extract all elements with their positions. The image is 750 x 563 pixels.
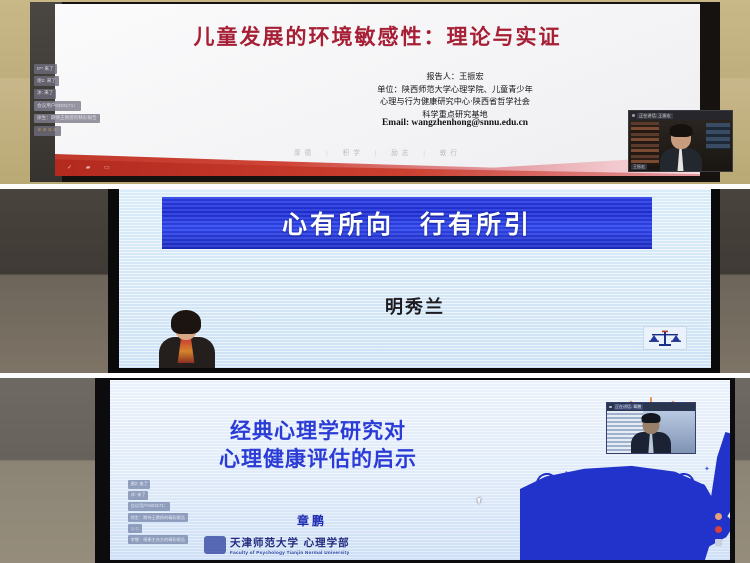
motto-divider-1: | [326, 150, 332, 157]
mouse-cursor-icon [477, 498, 483, 505]
bookshelf-background [631, 122, 659, 166]
slide-3-title-line-1: 经典心理学研究对 [158, 417, 478, 445]
remote-speaker-hair [669, 124, 692, 137]
chat-message: 李慧：感谢主办方的精彩报告 [128, 535, 188, 544]
slide-3-title-line-2: 心理健康评估的启示 [158, 445, 478, 473]
chat-message: 谢2: 来了 [128, 480, 150, 489]
chat-overlay-3: 谢2: 来了 沐: 来了 会议用户0403171： 徐生：期待王教授的精彩报告 … [128, 480, 278, 546]
remote-speaker-hair [642, 413, 661, 423]
video-tile-3-name: 正在讲话: 章鹏 [614, 404, 643, 410]
balance-scales-logo [643, 326, 687, 350]
video-tile-1-name: 正在讲话: 王振宏 [637, 113, 673, 119]
slide-2-banner-left: 心有所向 [282, 205, 394, 241]
motto-word-4: 敦行 [440, 150, 461, 157]
video-tile-1[interactable]: 正在讲话: 王振宏 王振宏 [628, 110, 733, 172]
on-stage-speaker-2 [157, 310, 217, 368]
panel-wang-zhenhong: 儿童发展的环境敏感性：理论与实证 报告人：王振宏 单位：陕西师范大学心理学院、儿… [0, 0, 750, 184]
microphone-icon [632, 114, 635, 117]
reaction-icon[interactable] [715, 526, 722, 533]
chat-emoji-run: ☺☺ [128, 524, 142, 533]
video-tile-3[interactable]: 正在讲话: 章鹏 [606, 402, 696, 454]
slide-2-banner-text: 心有所向 行有所引 [162, 197, 652, 249]
toolbar-icon[interactable] [715, 539, 722, 546]
chat-overlay-1: 0** 来了 谢2: 来了 沐: 来了 会议用户0403171： 徐生：期待王教… [34, 64, 194, 138]
slide-1-email: Email: wangzhenhong@snnu.edu.cn [305, 118, 605, 128]
chat-message: 0** 来了 [34, 64, 57, 74]
chat-message: 徐生：期待王教授的精彩报告 [128, 513, 188, 522]
lecture-screenshot-collage: 儿童发展的环境敏感性：理论与实证 报告人：王振宏 单位：陕西师范大学心理学院、儿… [0, 0, 750, 563]
chat-message: 徐生：期待王教授的精彩报告 [34, 114, 100, 124]
slide-2-banner-right: 行有所引 [420, 205, 532, 241]
video-tile-1-header: 正在讲话: 王振宏 [629, 111, 732, 120]
slide-1-affiliation-2: 心理与行为健康研究中心·陕西省哲学社会 [305, 95, 605, 108]
slide-1-speaker-line: 报告人：王振宏 [305, 70, 605, 83]
panel-ming-xiulan: 心有所向 行有所引 明秀兰 [0, 189, 750, 373]
bookshelf-background-right [706, 123, 730, 149]
panel-zhang-peng: 经典心理学研究对 心理健康评估的启示 章鹏 天津师范大学 心理学部 Facult… [0, 378, 750, 563]
slide-3-org-en: Faculty of Psychology Tianjin Normal Uni… [230, 550, 460, 555]
slide-3-title: 经典心理学研究对 心理健康评估的启示 [158, 417, 478, 474]
on-stage-speaker-hair [171, 310, 201, 334]
motto-word-1: 厚德 [294, 150, 315, 157]
slide-1-presenter-block: 报告人：王振宏 单位：陕西师范大学心理学院、儿童青少年 心理与行为健康研究中心·… [305, 70, 605, 121]
slide-2: 心有所向 行有所引 明秀兰 [119, 189, 711, 368]
slide-2-banner: 心有所向 行有所引 [162, 197, 652, 249]
chat-message: 沐: 来了 [34, 89, 56, 99]
motto-word-3: 励志 [391, 150, 412, 157]
slide-1-affiliation-1: 单位：陕西师范大学心理学院、儿童青少年 [305, 83, 605, 96]
chat-message: 沐: 来了 [128, 491, 148, 500]
video-tile-1-feed: 王振宏 [629, 120, 732, 171]
slide-1-title: 儿童发展的环境敏感性：理论与实证 [55, 21, 700, 51]
motto-divider-2: | [375, 150, 381, 157]
video-tile-3-feed [607, 411, 695, 453]
chat-emoji-run: ☺☺☺☺ [34, 126, 61, 136]
chat-message: 会议用户0403171： [34, 101, 81, 111]
chat-message: 谢2: 来了 [34, 76, 59, 86]
raise-hand-icon[interactable] [715, 513, 722, 520]
brain-bumps [528, 462, 718, 484]
motto-divider-3: | [423, 150, 429, 157]
video-tile-1-footer-label: 王振宏 [631, 164, 647, 170]
motto-word-2: 积学 [343, 150, 364, 157]
slide-1-footer-icons: ✓ ▰ ▭ [67, 164, 116, 171]
slide-1-motto: 厚德 | 积学 | 励志 | 敦行 [55, 147, 700, 157]
head-silhouette-graphic [520, 450, 730, 560]
reaction-icons-3[interactable] [715, 513, 722, 546]
slide-3: 经典心理学研究对 心理健康评估的启示 章鹏 天津师范大学 心理学部 Facult… [110, 380, 730, 560]
microphone-icon [609, 406, 612, 409]
video-tile-3-header: 正在讲话: 章鹏 [607, 403, 695, 411]
chat-message: 会议用户0403171： [128, 502, 170, 511]
